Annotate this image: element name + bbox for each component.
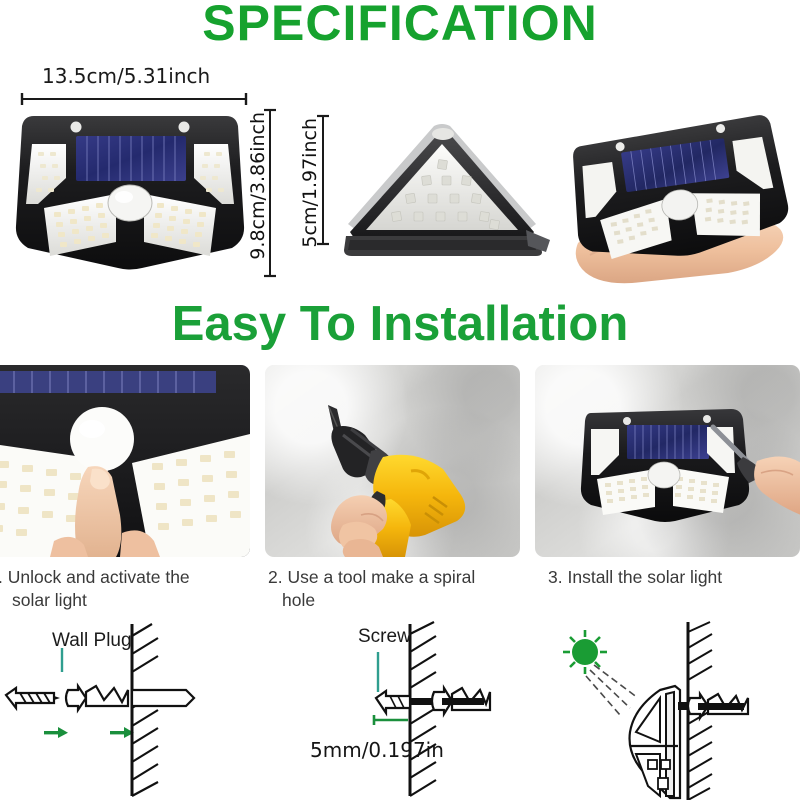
install-caption-2-text: Use a tool make a spiral xyxy=(287,567,475,587)
product-spec-page: SPECIFICATION 13.5cm/5.31inch xyxy=(0,0,800,800)
install-photo-step-1 xyxy=(0,365,250,557)
product-image-front-view xyxy=(14,108,246,273)
page-title-specification: SPECIFICATION xyxy=(0,0,800,52)
diagram-wall-plug xyxy=(0,620,300,805)
sun-icon xyxy=(563,630,607,674)
install-caption-3-text: Install the solar light xyxy=(567,567,722,587)
diagram-mounted-light xyxy=(530,620,800,805)
install-caption-1-line2: solar light xyxy=(0,589,238,612)
diagram-label-wall-plug: Wall Plug xyxy=(52,630,132,652)
diagram-label-screw: Screw xyxy=(358,626,411,648)
dimension-depth-bar xyxy=(317,114,329,246)
install-caption-1: . Unlock and activate the solar light xyxy=(0,566,238,613)
install-caption-3-number: 3. xyxy=(548,567,563,587)
dimension-width-label: 13.5cm/5.31inch xyxy=(42,64,210,88)
diagram-measurement-screw-length: 5mm/0.197in xyxy=(310,738,444,762)
install-photo-step-2 xyxy=(265,365,520,557)
install-caption-3: 3. Install the solar light xyxy=(548,566,798,589)
install-photo-step-3 xyxy=(535,365,800,557)
install-caption-1-text: Unlock and activate the xyxy=(8,567,190,587)
section-title-installation: Easy To Installation xyxy=(0,296,800,352)
product-image-side-view xyxy=(330,120,555,265)
dimension-height-bar xyxy=(264,108,276,278)
install-caption-2: 2. Use a tool make a spiral hole xyxy=(268,566,508,613)
product-image-hand-scale xyxy=(560,115,800,295)
dimension-width-bar xyxy=(20,93,248,105)
install-caption-2-line2: hole xyxy=(268,589,508,612)
install-caption-2-number: 2. xyxy=(268,567,283,587)
